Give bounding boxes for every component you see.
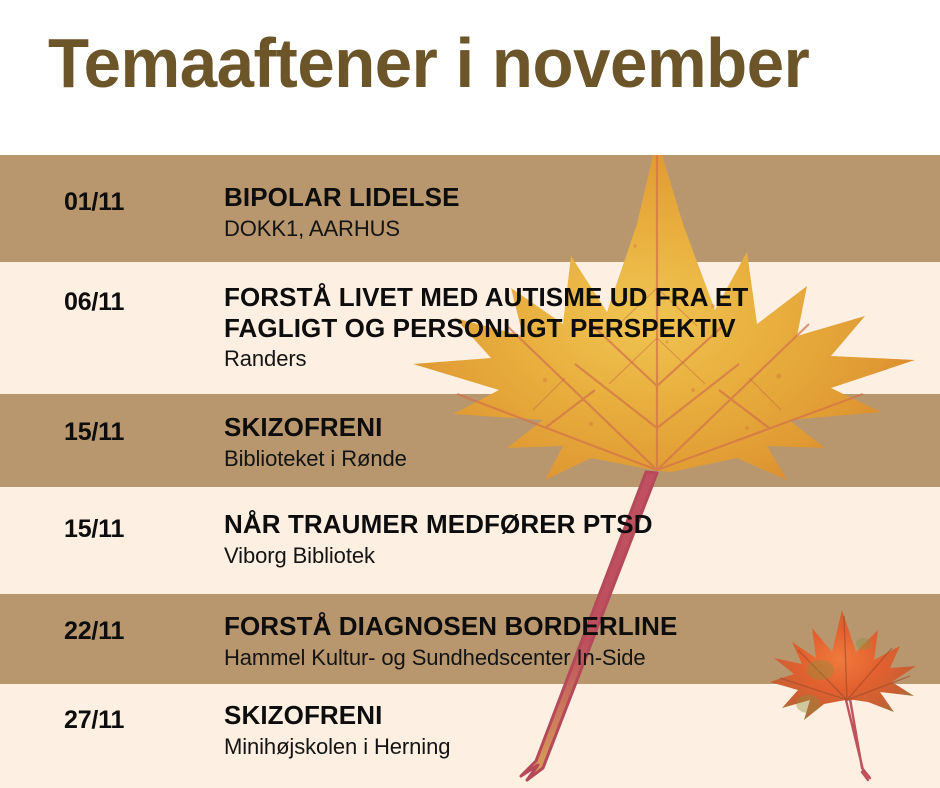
poster-canvas: Temaaftener i november 01/11BIPOLAR LIDE…: [0, 0, 940, 788]
event-details: BIPOLAR LIDELSEDOKK1, AARHUS: [224, 182, 930, 242]
event-details: SKIZOFRENIMinihøjskolen i Herning: [224, 700, 930, 760]
schedule-row[interactable]: 06/11FORSTÅ LIVET MED AUTISME UD FRA ET …: [0, 262, 940, 394]
event-date: 15/11: [64, 515, 124, 544]
event-title: BIPOLAR LIDELSE: [224, 182, 930, 213]
event-date: 27/11: [64, 706, 124, 735]
event-details: NÅR TRAUMER MEDFØRER PTSDViborg Bibliote…: [224, 509, 930, 569]
event-title: FORSTÅ LIVET MED AUTISME UD FRA ET FAGLI…: [224, 282, 930, 343]
schedule-row[interactable]: 01/11BIPOLAR LIDELSEDOKK1, AARHUS: [0, 155, 940, 262]
event-venue: Viborg Bibliotek: [224, 543, 930, 569]
event-venue: Hammel Kultur- og Sundhedscenter In-Side: [224, 645, 930, 671]
event-details: SKIZOFRENIBiblioteket i Rønde: [224, 412, 930, 472]
header-band: Temaaftener i november: [0, 0, 940, 155]
schedule-row[interactable]: 27/11SKIZOFRENIMinihøjskolen i Herning: [0, 684, 940, 788]
event-details: FORSTÅ DIAGNOSEN BORDERLINEHammel Kultur…: [224, 611, 930, 671]
event-venue: Randers: [224, 346, 930, 372]
event-venue: DOKK1, AARHUS: [224, 216, 930, 242]
schedule-row[interactable]: 15/11SKIZOFRENIBiblioteket i Rønde: [0, 394, 940, 487]
event-title: SKIZOFRENI: [224, 700, 930, 731]
event-title: NÅR TRAUMER MEDFØRER PTSD: [224, 509, 930, 540]
event-date: 06/11: [64, 288, 124, 317]
event-date: 22/11: [64, 617, 124, 646]
event-details: FORSTÅ LIVET MED AUTISME UD FRA ET FAGLI…: [224, 282, 930, 373]
schedule-row[interactable]: 22/11FORSTÅ DIAGNOSEN BORDERLINEHammel K…: [0, 594, 940, 684]
event-date: 15/11: [64, 418, 124, 447]
page-title: Temaaftener i november: [48, 28, 809, 98]
event-venue: Biblioteket i Rønde: [224, 446, 930, 472]
event-title: FORSTÅ DIAGNOSEN BORDERLINE: [224, 611, 930, 642]
event-date: 01/11: [64, 188, 124, 217]
schedule-row[interactable]: 15/11NÅR TRAUMER MEDFØRER PTSDViborg Bib…: [0, 487, 940, 594]
event-venue: Minihøjskolen i Herning: [224, 734, 930, 760]
event-title: SKIZOFRENI: [224, 412, 930, 443]
